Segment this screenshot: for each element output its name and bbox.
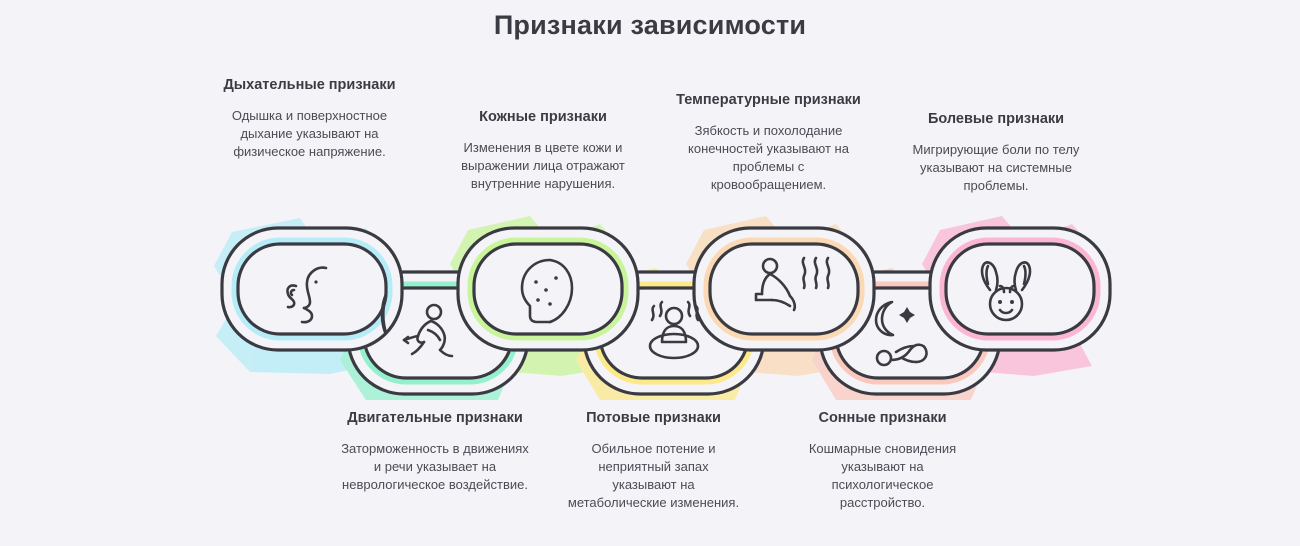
- label-title: Потовые признаки: [566, 409, 741, 428]
- label-block-1: Дыхательные признаки Одышка и поверхност…: [222, 76, 397, 161]
- chain-link-7: [930, 228, 1110, 350]
- page-title: Признаки зависимости: [0, 10, 1300, 41]
- label-block-3: Кожные признаки Изменения в цвете кожи и…: [453, 108, 633, 193]
- label-title: Температурные признаки: [676, 91, 861, 110]
- label-description: Изменения в цвете кожи и выражении лица …: [453, 139, 633, 193]
- label-description: Кошмарные сновидения указывают на психол…: [790, 440, 975, 512]
- label-description: Одышка и поверхностное дыхание указывают…: [222, 107, 397, 161]
- label-block-4: Потовые признаки Обильное потение и непр…: [566, 409, 741, 512]
- label-block-2: Двигательные признаки Заторможенность в …: [340, 409, 530, 494]
- label-description: Обильное потение и неприятный запах указ…: [566, 440, 741, 512]
- label-title: Двигательные признаки: [340, 409, 530, 428]
- label-description: Заторможенность в движениях и речи указы…: [340, 440, 530, 494]
- label-description: Зябкость и похолодание конечностей указы…: [676, 122, 861, 194]
- label-block-6: Сонные признаки Кошмарные сновидения ука…: [790, 409, 975, 512]
- label-block-7: Болевые признаки Мигрирующие боли по тел…: [906, 110, 1086, 195]
- label-description: Мигрирующие боли по телу указывают на си…: [906, 141, 1086, 195]
- label-title: Сонные признаки: [790, 409, 975, 428]
- label-title: Дыхательные признаки: [222, 76, 397, 95]
- label-block-5: Температурные признаки Зябкость и похоло…: [676, 91, 861, 194]
- chain-link-3: [458, 228, 638, 350]
- chain-link-5: [694, 228, 874, 350]
- chain-link-1: [222, 228, 402, 350]
- label-title: Болевые признаки: [906, 110, 1086, 129]
- label-title: Кожные признаки: [453, 108, 633, 127]
- chain-diagram: [0, 210, 1300, 400]
